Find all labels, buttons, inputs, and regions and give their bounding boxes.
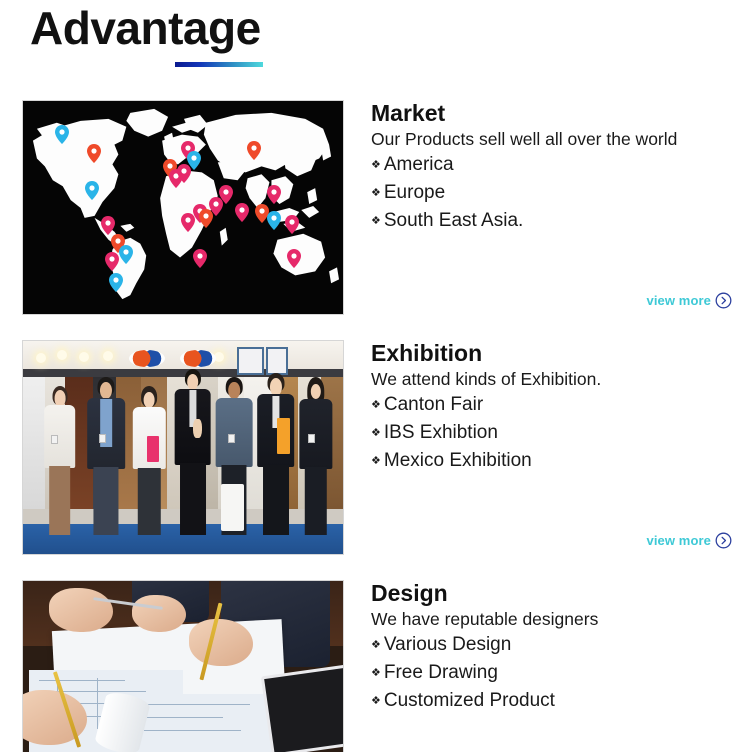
section-subtitle: We have reputable designers [371, 608, 731, 631]
design-photo [22, 580, 344, 752]
world-map-svg [23, 101, 343, 314]
list-item-label: America [384, 152, 454, 178]
design-copy: Design We have reputable designers ❖Vari… [371, 580, 731, 716]
view-more-link-exhibition[interactable]: view more [647, 532, 733, 549]
map-pin-pink [235, 203, 249, 222]
map-pin-pink [267, 185, 281, 204]
list-item: ❖Customized Product [371, 688, 731, 716]
list-item-label: Free Drawing [384, 660, 498, 686]
exhibition-photo [22, 340, 344, 555]
list-item-label: South East Asia. [384, 208, 523, 234]
list-item: ❖Various Design [371, 632, 731, 660]
list-item-label: IBS Exhibtion [384, 420, 498, 446]
exhibition-booth-scene [23, 341, 343, 554]
map-pin-pink [193, 249, 207, 268]
list-item: ❖Free Drawing [371, 660, 731, 688]
market-copy: Market Our Products sell well all over t… [371, 100, 731, 236]
chevron-right-circle-icon [715, 292, 732, 309]
map-pin-red [87, 144, 101, 163]
section-heading: Market [371, 100, 731, 127]
section-bullet-list: ❖Various Design ❖Free Drawing ❖Customize… [371, 632, 731, 716]
booth-brand-logo [129, 350, 165, 367]
blueprint-sheet [132, 694, 279, 752]
map-pin-cyan [55, 125, 69, 144]
booth-wall-panel [237, 347, 263, 374]
person [170, 369, 215, 535]
hand [49, 588, 113, 632]
map-pin-pink [181, 213, 195, 232]
tablet-device [261, 664, 343, 752]
map-pin-red [247, 141, 261, 160]
view-more-label: view more [647, 533, 712, 549]
map-pin-cyan [119, 245, 133, 264]
list-item: ❖Mexico Exhibition [371, 448, 731, 476]
orange-folder [277, 418, 290, 454]
view-more-label: view more [647, 293, 712, 309]
list-item: ❖Canton Fair [371, 392, 731, 420]
diamond-bullet-icon: ❖ [371, 392, 381, 418]
section-heading: Exhibition [371, 340, 731, 367]
view-more-link-market[interactable]: view more [647, 292, 733, 309]
list-item-label: Mexico Exhibition [384, 448, 532, 474]
map-pin-pink [285, 215, 299, 234]
person [295, 377, 337, 535]
list-item-label: Customized Product [384, 688, 555, 714]
list-item-label: Various Design [384, 632, 511, 658]
diamond-bullet-icon: ❖ [371, 660, 381, 686]
map-pin-cyan [187, 151, 201, 170]
diamond-bullet-icon: ❖ [371, 688, 381, 714]
person [129, 386, 171, 535]
list-item: ❖America [371, 152, 731, 180]
world-map-image [22, 100, 344, 315]
map-pin-cyan [109, 273, 123, 292]
chevron-right-circle-icon [715, 532, 732, 549]
section-bullet-list: ❖America ❖Europe ❖South East Asia. [371, 152, 731, 236]
hand [132, 595, 186, 633]
design-desk-scene [23, 581, 343, 752]
booth-wall-panel [266, 347, 288, 374]
diamond-bullet-icon: ❖ [371, 152, 381, 178]
section-subtitle: We attend kinds of Exhibition. [371, 368, 731, 391]
map-pin-pink [101, 216, 115, 235]
diamond-bullet-icon: ❖ [371, 208, 381, 234]
page-title: Advantage [30, 0, 730, 56]
map-pin-cyan [85, 181, 99, 200]
diamond-bullet-icon: ❖ [371, 180, 381, 206]
diamond-bullet-icon: ❖ [371, 420, 381, 446]
thumbs-up-hand [193, 419, 201, 439]
pink-folder [147, 436, 159, 461]
list-item: ❖IBS Exhibtion [371, 420, 731, 448]
title-underline-accent [175, 62, 263, 67]
page-title-block: Advantage [30, 0, 730, 56]
diamond-bullet-icon: ❖ [371, 448, 381, 474]
list-item: ❖South East Asia. [371, 208, 731, 236]
shopping-bag [221, 484, 243, 531]
map-pin-pink [287, 249, 301, 268]
section-bullet-list: ❖Canton Fair ❖IBS Exhibtion ❖Mexico Exhi… [371, 392, 731, 476]
map-canvas [23, 101, 343, 314]
section-subtitle: Our Products sell well all over the worl… [371, 128, 731, 151]
list-item-label: Europe [384, 180, 445, 206]
person [39, 386, 81, 535]
exhibition-copy: Exhibition We attend kinds of Exhibition… [371, 340, 731, 476]
map-pin-pink [219, 185, 233, 204]
map-pin-cyan [267, 211, 281, 230]
person [84, 377, 129, 535]
person [253, 373, 298, 535]
list-item: ❖Europe [371, 180, 731, 208]
list-item-label: Canton Fair [384, 392, 483, 418]
booth-brand-logo [180, 350, 216, 367]
section-heading: Design [371, 580, 731, 607]
diamond-bullet-icon: ❖ [371, 632, 381, 658]
map-pin-pink [105, 252, 119, 271]
